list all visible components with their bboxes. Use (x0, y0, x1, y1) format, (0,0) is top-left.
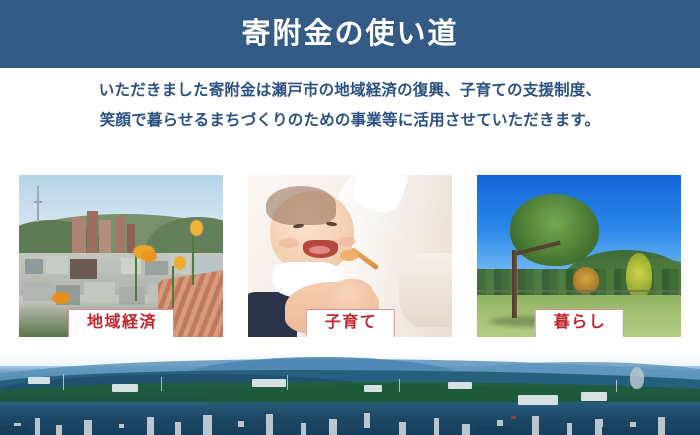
city-panorama-photo (0, 352, 700, 435)
usage-card-list: 地域経済 (19, 175, 681, 337)
usage-card-label: 子育て (306, 309, 395, 337)
page-header: 寄附金の使い道 (0, 0, 700, 68)
usage-card-label: 暮らし (535, 309, 624, 337)
page-title: 寄附金の使い道 (241, 20, 458, 49)
lead-line-2: 笑顔で暮らせるまちづくりのための事業等に活用させていただきます。 (0, 106, 700, 136)
usage-card-local-economy[interactable]: 地域経済 (19, 175, 223, 337)
usage-card-childcare[interactable]: 子育て (248, 175, 452, 337)
usage-card-living[interactable]: 暮らし (477, 175, 681, 337)
lead-line-1: いただきました寄附金は瀬戸市の地域経済の復興、子育ての支援制度、 (0, 76, 700, 106)
page-root: 寄附金の使い道 いただきました寄附金は瀬戸市の地域経済の復興、子育ての支援制度、… (0, 0, 700, 435)
lead-paragraph: いただきました寄附金は瀬戸市の地域経済の復興、子育ての支援制度、 笑顔で暮らせる… (0, 76, 700, 136)
usage-card-label: 地域経済 (68, 309, 174, 337)
